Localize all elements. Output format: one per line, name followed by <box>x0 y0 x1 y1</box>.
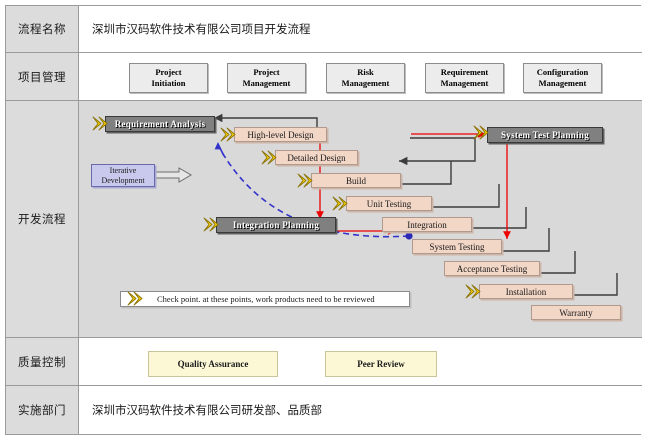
row-label-quality-control: 质量控制 <box>6 338 79 385</box>
pm-button-line2: Initiation <box>151 78 185 89</box>
node-detailed-design[interactable]: Detailed Design <box>275 150 358 165</box>
node-iterative-development[interactable]: Iterative Development <box>91 164 155 187</box>
node-label: Requirement Analysis <box>115 119 206 129</box>
checkpoint-icon <box>261 150 278 165</box>
node-system-test-planning[interactable]: System Test Planning <box>487 127 603 143</box>
table-row-quality-control: 质量控制 Quality Assurance Peer Review <box>6 338 642 386</box>
pm-button-line1: Requirement <box>441 67 489 78</box>
flowchart-page: 流程名称 深圳市汉码软件技术有限公司项目开发流程 项目管理 Project In… <box>0 0 646 440</box>
node-label: Integration <box>407 220 447 230</box>
qc-box-peer-review[interactable]: Peer Review <box>325 351 437 377</box>
development-flow-diagram: Requirement Analysis High-level Design D… <box>79 101 642 338</box>
row-label-development-flow: 开发流程 <box>6 101 79 337</box>
table-row-development-flow: 开发流程 <box>6 101 642 338</box>
implementation-dept-value: 深圳市汉码软件技术有限公司研发部、品质部 <box>92 402 322 418</box>
pm-button-line2: Management <box>342 78 390 89</box>
node-system-testing[interactable]: System Testing <box>412 239 502 254</box>
pm-button-line1: Project <box>253 67 279 78</box>
checkpoint-icon <box>332 196 349 211</box>
node-integration-planning[interactable]: Integration Planning <box>216 217 336 233</box>
qc-box-label: Quality Assurance <box>178 359 249 369</box>
checkpoint-icon <box>203 217 220 232</box>
row-label-process-name: 流程名称 <box>6 6 79 52</box>
node-acceptance-testing[interactable]: Acceptance Testing <box>444 261 540 276</box>
node-label: System Testing <box>430 242 485 252</box>
pm-button-line2: Management <box>243 78 291 89</box>
qc-box-quality-assurance[interactable]: Quality Assurance <box>148 351 278 377</box>
process-name-value: 深圳市汉码软件技术有限公司项目开发流程 <box>92 21 311 37</box>
node-integration[interactable]: Integration <box>382 217 472 232</box>
table-row-implementation-dept: 实施部门 深圳市汉码软件技术有限公司研发部、品质部 <box>6 386 642 434</box>
node-label: Detailed Design <box>287 153 345 163</box>
row-body-process-name: 深圳市汉码软件技术有限公司项目开发流程 <box>79 6 642 52</box>
node-installation[interactable]: Installation <box>479 284 573 299</box>
row-body-quality-control: Quality Assurance Peer Review <box>79 338 642 385</box>
process-table: 流程名称 深圳市汉码软件技术有限公司项目开发流程 项目管理 Project In… <box>5 5 641 435</box>
node-label: System Test Planning <box>501 130 589 140</box>
table-row-process-name: 流程名称 深圳市汉码软件技术有限公司项目开发流程 <box>6 6 642 53</box>
node-warranty[interactable]: Warranty <box>531 305 621 320</box>
pm-button-configuration-management[interactable]: Configuration Management <box>523 63 602 93</box>
row-body-development-flow: Requirement Analysis High-level Design D… <box>79 101 642 337</box>
legend-text: Check point. at these points, work produ… <box>157 294 375 304</box>
checkpoint-icon <box>473 125 490 140</box>
node-build[interactable]: Build <box>311 173 401 188</box>
node-label: Warranty <box>559 308 592 318</box>
row-label-implementation-dept: 实施部门 <box>6 386 79 434</box>
pm-button-line1: Risk <box>357 67 374 78</box>
pm-button-project-management[interactable]: Project Management <box>227 63 306 93</box>
pm-button-line2: Management <box>539 78 587 89</box>
node-label: Acceptance Testing <box>457 264 527 274</box>
checkpoint-icon <box>127 291 144 306</box>
checkpoint-icon <box>92 116 109 131</box>
checkpoint-icon <box>220 127 237 142</box>
checkpoint-icon <box>297 173 314 188</box>
row-label-project-management: 项目管理 <box>6 53 79 100</box>
pm-button-risk-management[interactable]: Risk Management <box>326 63 405 93</box>
checkpoint-icon <box>465 284 482 299</box>
pm-button-line2: Management <box>441 78 489 89</box>
node-label: Integration Planning <box>233 220 319 230</box>
row-body-project-management: Project Initiation Project Management Ri… <box>79 53 642 100</box>
node-high-level-design[interactable]: High-level Design <box>234 127 327 142</box>
node-label-line2: Development <box>101 176 144 186</box>
pm-button-project-initiation[interactable]: Project Initiation <box>129 63 208 93</box>
node-label: Build <box>346 176 366 186</box>
node-requirement-analysis[interactable]: Requirement Analysis <box>105 116 215 132</box>
legend-checkpoint-box: Check point. at these points, work produ… <box>120 291 410 307</box>
table-row-project-management: 项目管理 Project Initiation Project Manageme… <box>6 53 642 101</box>
pm-button-requirement-management[interactable]: Requirement Management <box>425 63 504 93</box>
pm-button-line1: Configuration <box>537 67 588 78</box>
qc-box-label: Peer Review <box>357 359 405 369</box>
pm-button-line1: Project <box>155 67 181 78</box>
node-label: High-level Design <box>247 130 313 140</box>
row-body-implementation-dept: 深圳市汉码软件技术有限公司研发部、品质部 <box>79 386 642 434</box>
node-label: Unit Testing <box>367 199 411 209</box>
node-label: Installation <box>506 287 547 297</box>
node-label-line1: Iterative <box>110 166 137 176</box>
node-unit-testing[interactable]: Unit Testing <box>346 196 432 211</box>
